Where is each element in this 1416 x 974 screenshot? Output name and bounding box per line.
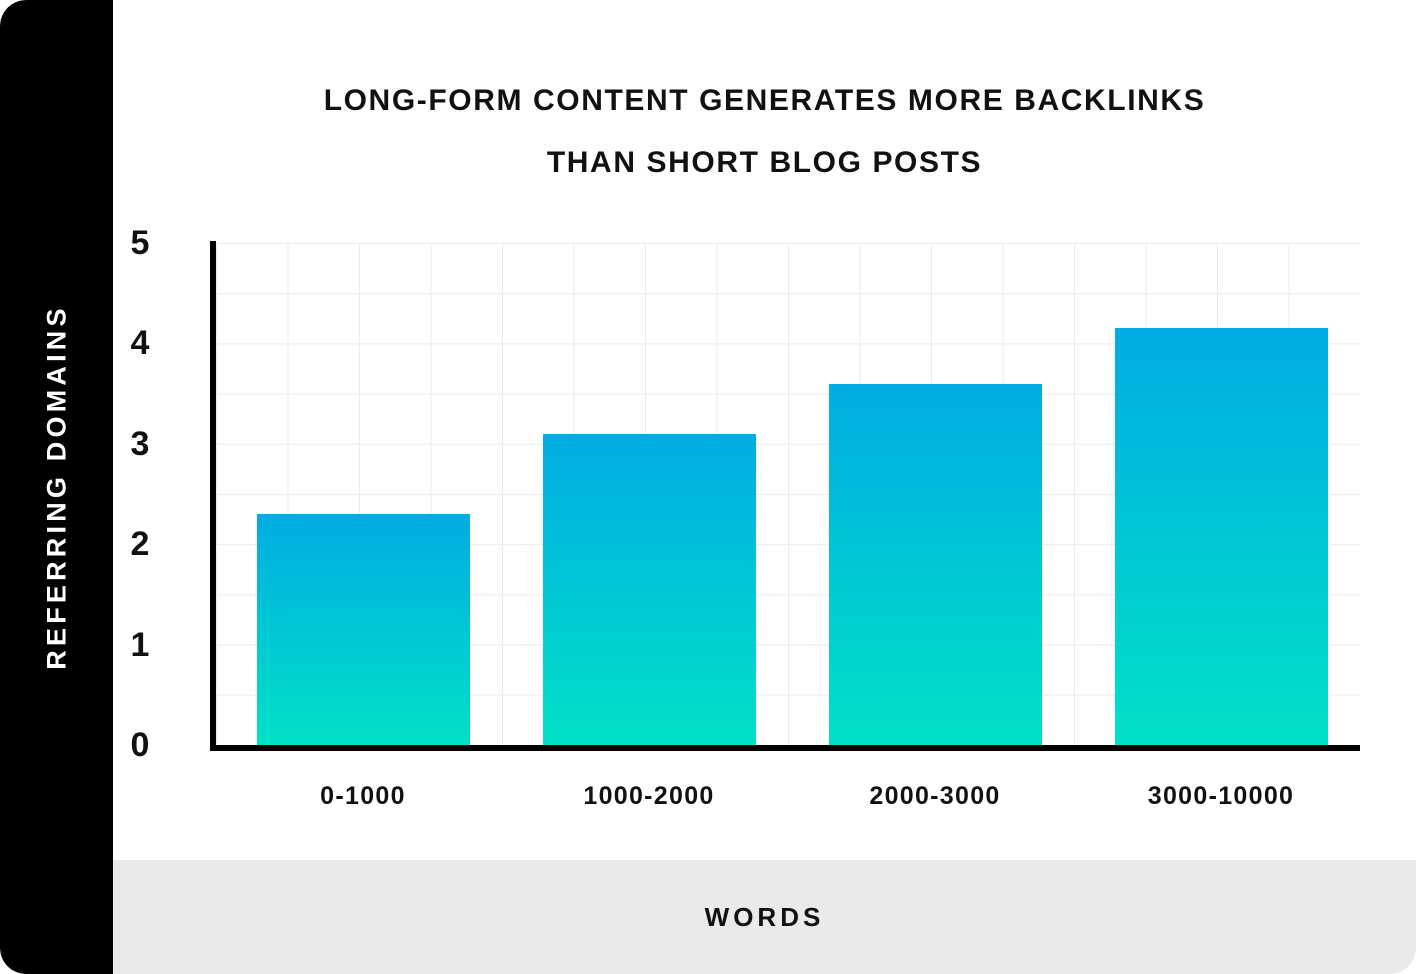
x-axis-footer: WORDS bbox=[113, 860, 1416, 974]
y-tick-label: 3 bbox=[117, 427, 163, 461]
x-tick-label: 1000-2000 bbox=[489, 781, 809, 811]
x-axis-line bbox=[210, 745, 1360, 751]
chart-panel: LONG-FORM CONTENT GENERATES MORE BACKLIN… bbox=[113, 0, 1416, 860]
plot-area bbox=[216, 243, 1360, 745]
chart-title-line-2: THAN SHORT BLOG POSTS bbox=[113, 132, 1416, 194]
bar bbox=[543, 434, 756, 745]
y-tick-label: 2 bbox=[117, 527, 163, 561]
x-tick-label: 0-1000 bbox=[203, 781, 523, 811]
y-tick-label: 1 bbox=[117, 628, 163, 662]
gridline-top bbox=[216, 243, 1360, 244]
y-tick-label: 4 bbox=[117, 326, 163, 360]
bar bbox=[257, 514, 470, 745]
y-axis-line bbox=[210, 241, 216, 751]
bar bbox=[1115, 328, 1328, 745]
y-axis-sidebar: REFERRING DOMAINS bbox=[0, 0, 113, 974]
chart-title-line-1: LONG-FORM CONTENT GENERATES MORE BACKLIN… bbox=[113, 70, 1416, 132]
y-tick-label: 0 bbox=[117, 728, 163, 762]
y-axis-title: REFERRING DOMAINS bbox=[41, 304, 72, 669]
chart-title: LONG-FORM CONTENT GENERATES MORE BACKLIN… bbox=[113, 70, 1416, 194]
y-tick-label: 5 bbox=[117, 226, 163, 260]
x-axis-title: WORDS bbox=[113, 860, 1416, 974]
x-tick-label: 2000-3000 bbox=[775, 781, 1095, 811]
x-tick-label: 3000-10000 bbox=[1061, 781, 1381, 811]
bar bbox=[829, 384, 1042, 745]
chart-card: REFERRING DOMAINS LONG-FORM CONTENT GENE… bbox=[0, 0, 1416, 974]
